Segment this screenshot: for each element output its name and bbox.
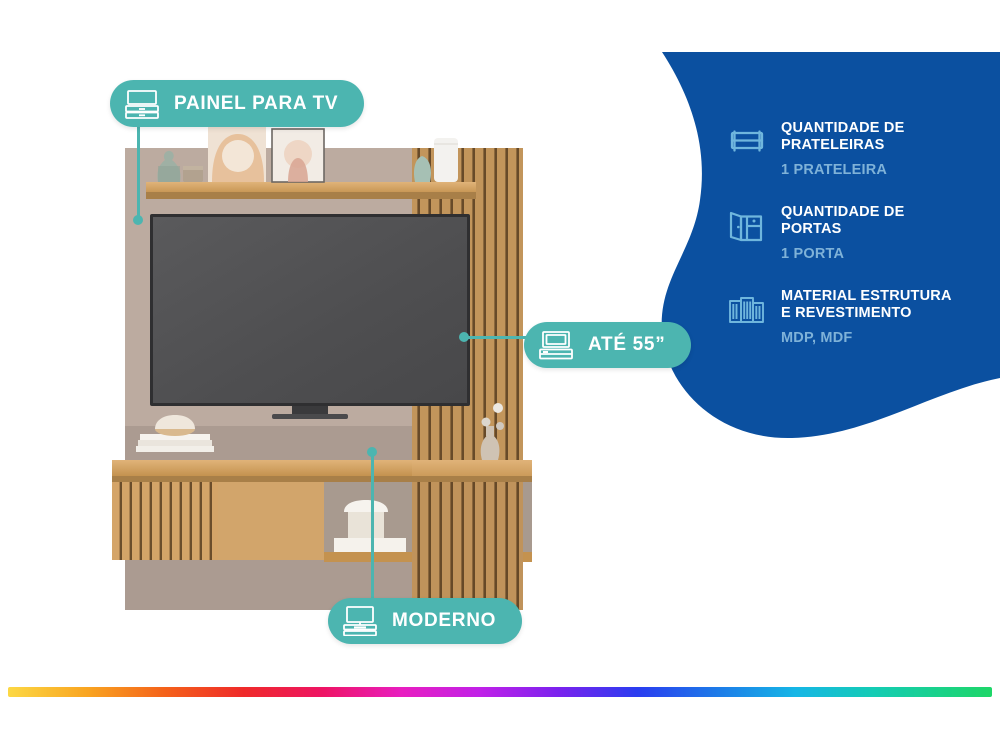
badge-label-moderno: MODERNO xyxy=(392,610,496,632)
badge-ate-55[interactable]: ATÉ 55” xyxy=(524,322,691,368)
badge-label-ate55: ATÉ 55” xyxy=(588,334,665,356)
spec-title-line2: PORTAS xyxy=(781,221,904,238)
badge-label-painel: PAINEL PARA TV xyxy=(174,93,338,115)
tv-screen-icon xyxy=(538,330,574,360)
spec-value-portas: 1 PORTA xyxy=(781,246,904,262)
connector-line-ate55 xyxy=(465,336,527,339)
spec-value-prateleiras: 1 PRATELEIRA xyxy=(781,162,904,178)
tv-panel-icon xyxy=(124,89,160,119)
spec-title-material: MATERIAL ESTRUTURA E REVESTIMENTO xyxy=(781,288,952,322)
specs-list: QUANTIDADE DE PRATELEIRAS 1 PRATELEIRA xyxy=(725,118,987,368)
tv-stand-icon xyxy=(342,606,378,636)
connector-line-moderno xyxy=(371,451,374,603)
spec-title-line2: PRATELEIRAS xyxy=(781,137,904,154)
screenshot-canvas: QUANTIDADE DE PRATELEIRAS 1 PRATELEIRA xyxy=(0,0,1000,750)
spec-title-line2: E REVESTIMENTO xyxy=(781,305,952,322)
spec-title-prateleiras: QUANTIDADE DE PRATELEIRAS xyxy=(781,120,904,154)
product-image xyxy=(112,126,536,618)
spec-title-portas: QUANTIDADE DE PORTAS xyxy=(781,204,904,238)
spec-title-line1: QUANTIDADE DE xyxy=(781,120,904,137)
connector-dot-moderno xyxy=(367,447,377,457)
spec-row-material: MATERIAL ESTRUTURA E REVESTIMENTO MDP, M… xyxy=(725,286,987,346)
badge-painel-para-tv[interactable]: PAINEL PARA TV xyxy=(110,80,364,127)
spec-text-material: MATERIAL ESTRUTURA E REVESTIMENTO MDP, M… xyxy=(781,286,952,346)
spec-text-prateleiras: QUANTIDADE DE PRATELEIRAS 1 PRATELEIRA xyxy=(781,118,904,178)
spec-text-portas: QUANTIDADE DE PORTAS 1 PORTA xyxy=(781,202,904,262)
spec-title-line1: QUANTIDADE DE xyxy=(781,204,904,221)
door-icon xyxy=(725,204,769,248)
spec-title-line1: MATERIAL ESTRUTURA xyxy=(781,288,952,305)
connector-line-painel xyxy=(137,127,140,220)
spec-value-material: MDP, MDF xyxy=(781,330,952,346)
badge-moderno[interactable]: MODERNO xyxy=(328,598,522,644)
shelf-icon xyxy=(725,120,769,164)
rainbow-gradient-bar xyxy=(8,687,992,697)
material-panels-icon xyxy=(725,288,769,332)
spec-row-prateleiras: QUANTIDADE DE PRATELEIRAS 1 PRATELEIRA xyxy=(725,118,987,178)
connector-dot-ate55 xyxy=(459,332,469,342)
connector-dot-painel xyxy=(133,215,143,225)
spec-row-portas: QUANTIDADE DE PORTAS 1 PORTA xyxy=(725,202,987,262)
